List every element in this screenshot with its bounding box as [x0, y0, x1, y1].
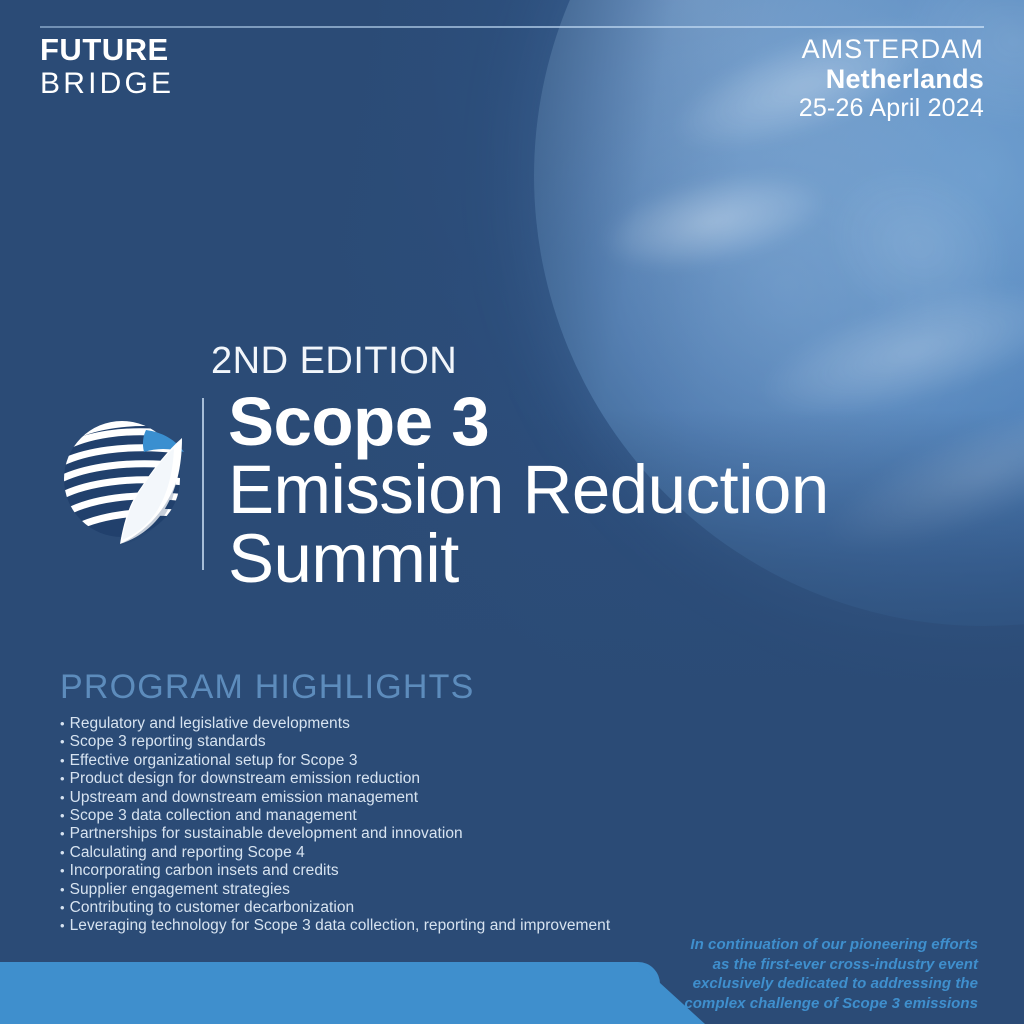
- list-item: Upstream and downstream emission managem…: [60, 789, 700, 807]
- list-item: Partnerships for sustainable development…: [60, 825, 700, 843]
- program-highlights-heading: PROGRAM HIGHLIGHTS: [60, 668, 475, 707]
- list-item: Incorporating carbon insets and credits: [60, 862, 700, 880]
- event-location-date: AMSTERDAM Netherlands 25-26 April 2024: [799, 34, 984, 122]
- list-item: Scope 3 reporting standards: [60, 733, 700, 751]
- tagline-line-3: exclusively dedicated to addressing the: [648, 974, 978, 994]
- futurebridge-logo: FUTURE BRIDGE: [40, 34, 174, 99]
- list-item: Calculating and reporting Scope 4: [60, 844, 700, 862]
- list-item: Regulatory and legislative developments: [60, 715, 700, 733]
- brand-line-2: BRIDGE: [40, 69, 174, 99]
- title-line-1: Scope 3: [228, 388, 1008, 456]
- list-item: Product design for downstream emission r…: [60, 770, 700, 788]
- brand-line-1: FUTURE: [40, 34, 174, 65]
- tagline: In continuation of our pioneering effort…: [648, 935, 978, 1013]
- event-city: AMSTERDAM: [799, 34, 984, 64]
- header-divider-rule: [40, 26, 984, 28]
- tagline-line-4: complex challenge of Scope 3 emissions: [648, 994, 978, 1014]
- title-line-3: Summit: [228, 525, 1008, 593]
- program-highlights-list: Regulatory and legislative developments …: [60, 715, 700, 936]
- event-dates: 25-26 April 2024: [799, 94, 984, 122]
- page-title: Scope 3 Emission Reduction Summit: [228, 388, 1008, 593]
- event-poster: FUTURE BRIDGE AMSTERDAM Netherlands 25-2…: [0, 0, 1024, 1024]
- title-divider: [202, 398, 204, 570]
- list-item: Scope 3 data collection and management: [60, 807, 700, 825]
- bottom-accent-band: [0, 962, 705, 1024]
- edition-label: 2ND EDITION: [211, 340, 457, 383]
- event-country: Netherlands: [799, 64, 984, 94]
- tagline-line-2: as the first-ever cross-industry event: [648, 955, 978, 975]
- globe-swoosh-icon: [50, 404, 200, 554]
- tagline-line-1: In continuation of our pioneering effort…: [648, 935, 978, 955]
- list-item: Leveraging technology for Scope 3 data c…: [60, 917, 700, 935]
- title-line-2: Emission Reduction: [228, 456, 1008, 524]
- list-item: Contributing to customer decarbonization: [60, 899, 700, 917]
- list-item: Effective organizational setup for Scope…: [60, 752, 700, 770]
- list-item: Supplier engagement strategies: [60, 881, 700, 899]
